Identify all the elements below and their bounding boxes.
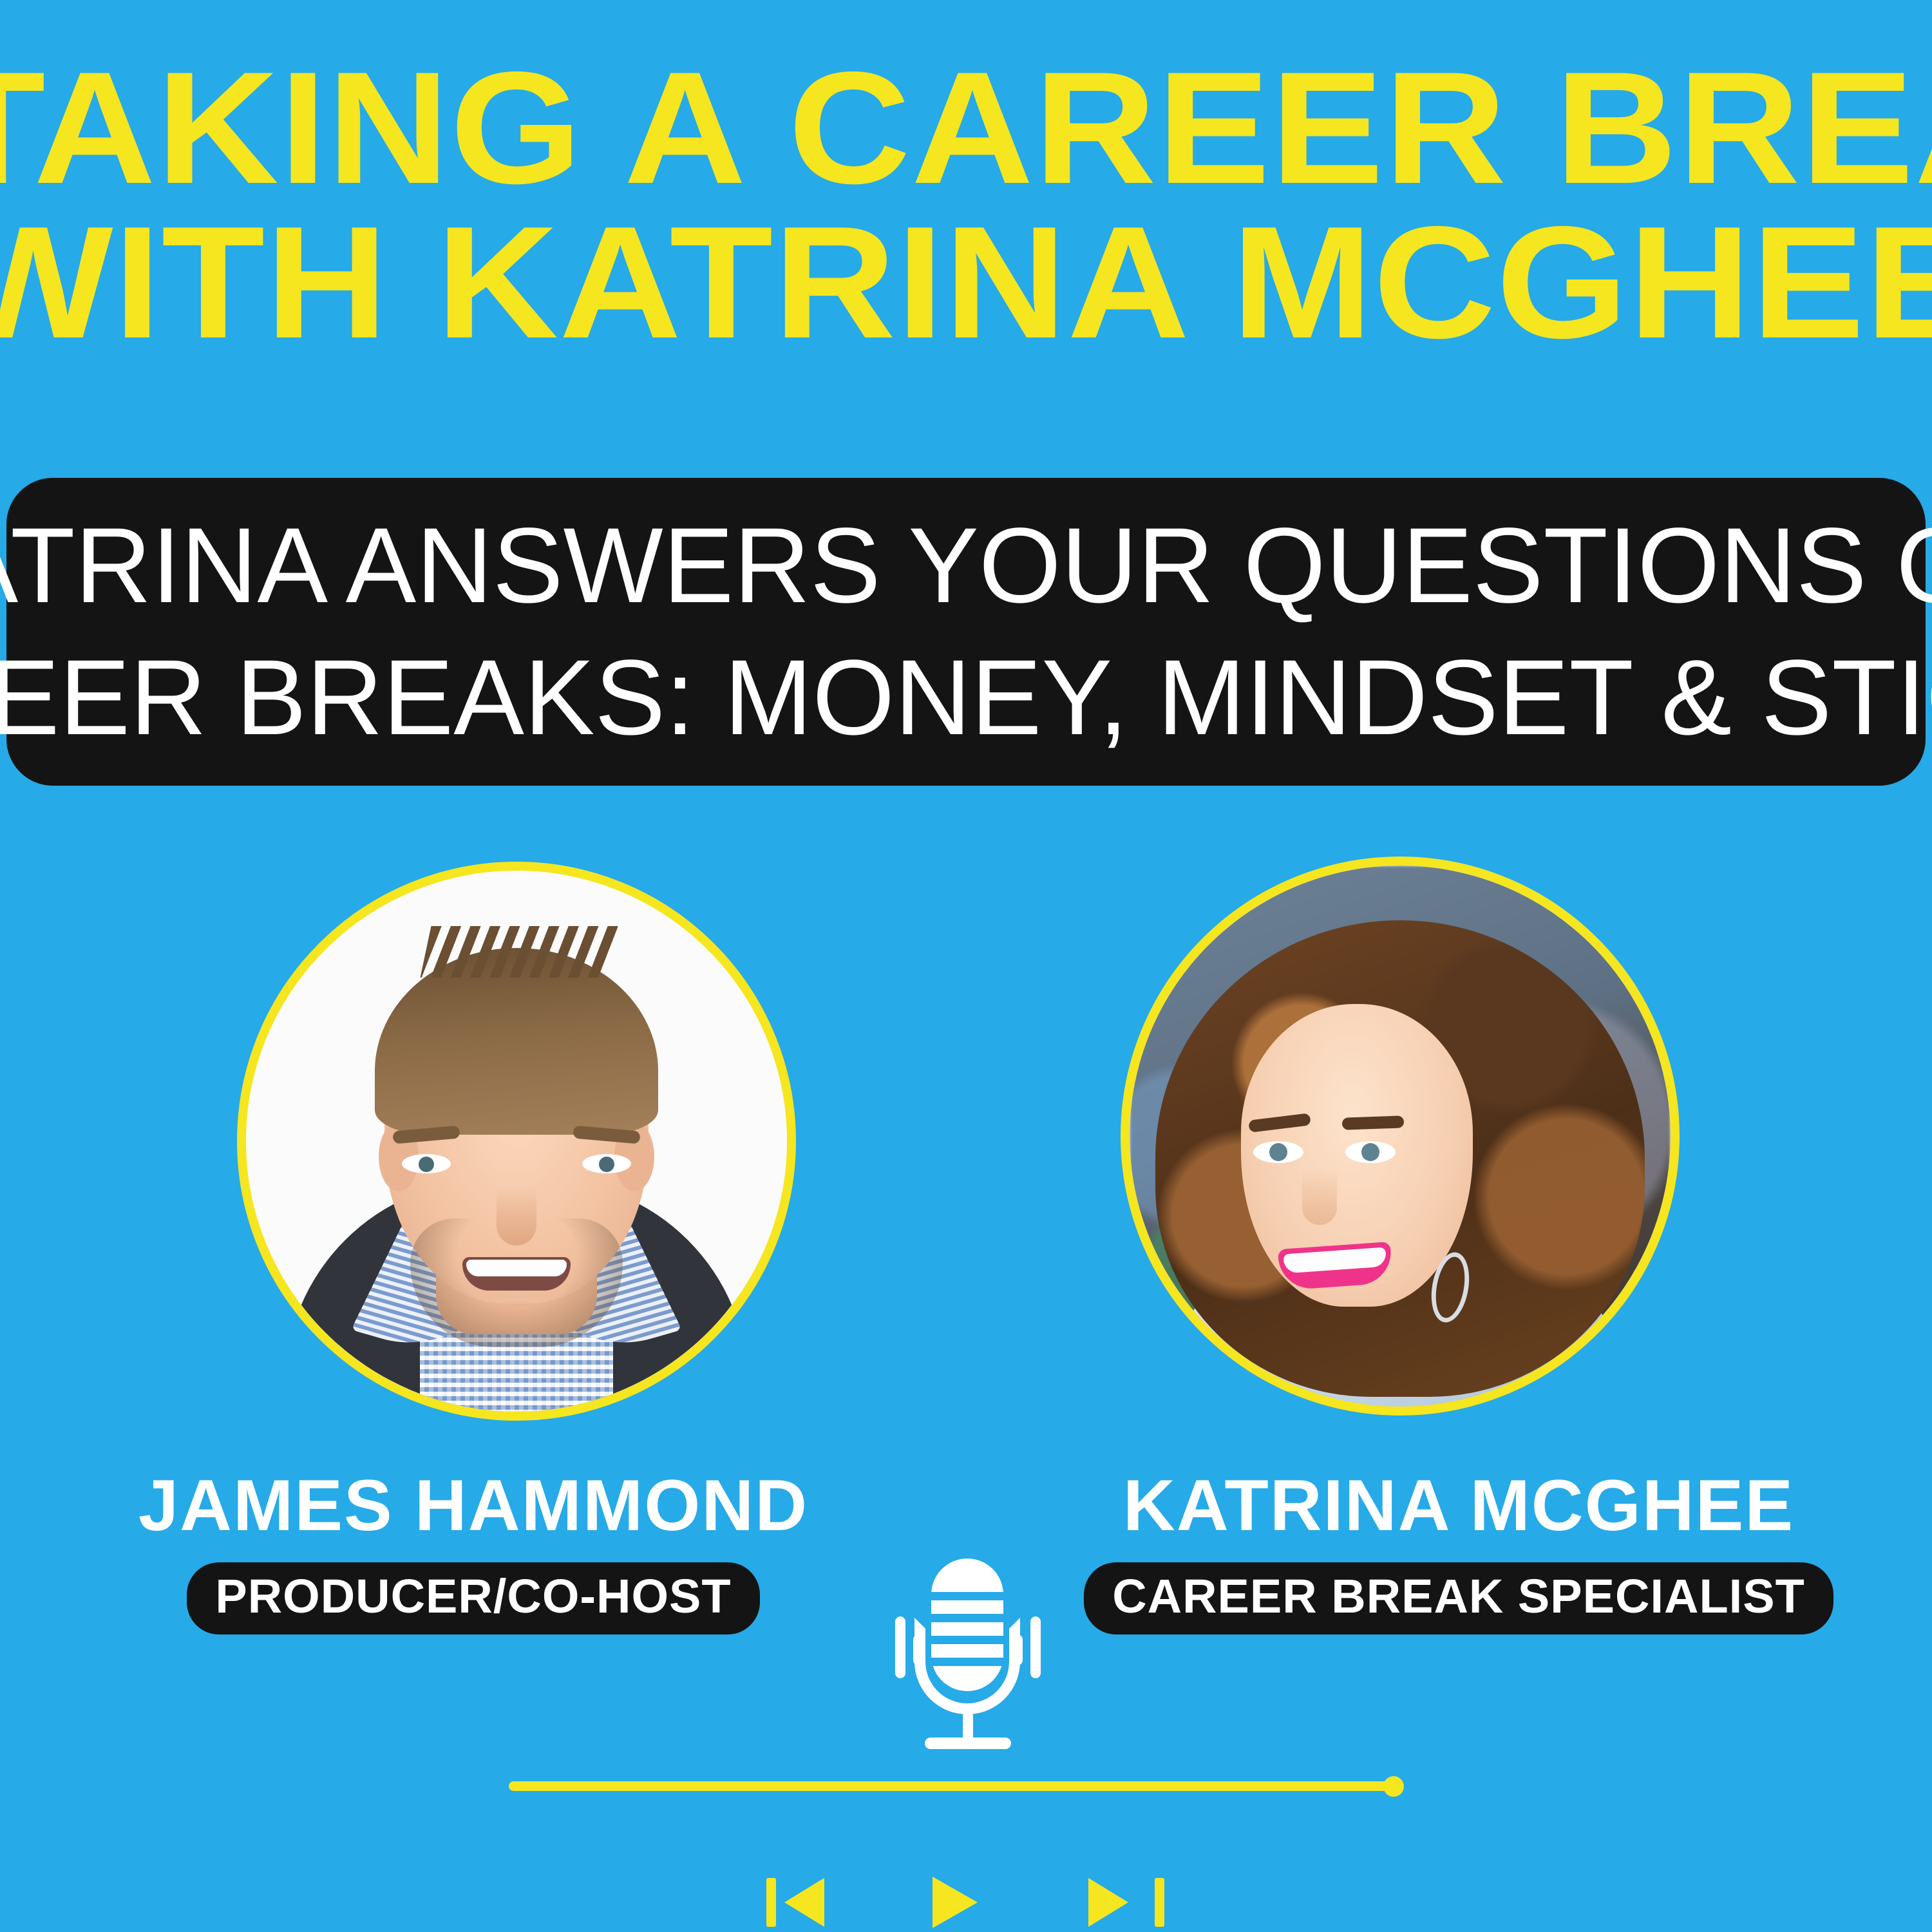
james-teeth <box>466 1260 567 1276</box>
episode-subtitle-line-2: CAREER BREAKS: MONEY, MINDSET & STIGMA <box>0 632 1932 764</box>
skip-next-triangle <box>1088 1878 1128 1927</box>
progress-knob[interactable] <box>1383 1776 1404 1797</box>
avatar-image-katrina <box>1130 866 1671 1406</box>
progress-track[interactable] <box>509 1781 1391 1791</box>
podcast-cover-art: TAKING A CAREER BREAK WITH KATRINA MCGHE… <box>0 0 1932 1932</box>
katrina-eyebrow-right <box>1342 1115 1405 1130</box>
sound-wave-bar-far-right <box>1030 1616 1041 1678</box>
play-triangle <box>933 1877 978 1928</box>
person-name-katrina: KATRINA MCGHEE <box>1024 1467 1893 1544</box>
sound-wave-bar-far-left <box>895 1616 905 1678</box>
skip-previous-triangle <box>784 1878 824 1927</box>
episode-subtitle-banner: KATRINA ANSWERS YOUR QUESTIONS ON CAREER… <box>6 478 1926 786</box>
james-mouth <box>462 1257 571 1291</box>
katrina-teeth <box>1283 1247 1387 1274</box>
page-title: TAKING A CAREER BREAK WITH KATRINA MCGHE… <box>0 50 1932 359</box>
skip-previous-bar <box>766 1878 776 1927</box>
microphone-icon <box>894 1558 1042 1758</box>
episode-subtitle-line-1: KATRINA ANSWERS YOUR QUESTIONS ON <box>0 500 1932 632</box>
play-icon[interactable] <box>933 1873 1003 1932</box>
title-line-2: WITH KATRINA MCGHEE <box>0 205 1932 359</box>
skip-next-icon[interactable] <box>1088 1873 1164 1932</box>
player-controls <box>766 1873 1166 1932</box>
playback-progress-bar[interactable] <box>509 1776 1404 1795</box>
role-badge-james: PRODUCER/CO-HOST <box>187 1562 759 1634</box>
microphone-base <box>925 1738 1011 1749</box>
katrina-nose <box>1302 1168 1337 1225</box>
james-nose <box>497 1186 536 1245</box>
katrina-eye-right <box>1345 1141 1396 1163</box>
person-name-james: JAMES HAMMOND <box>39 1467 908 1544</box>
james-eye-right <box>582 1154 631 1173</box>
skip-previous-icon[interactable] <box>766 1873 842 1932</box>
avatar-katrina-mcghee <box>1121 857 1680 1416</box>
james-eye-left <box>402 1154 451 1173</box>
host-photos <box>0 862 1932 1441</box>
skip-next-bar <box>1155 1878 1164 1927</box>
person-block-james: JAMES HAMMOND PRODUCER/CO-HOST <box>39 1467 908 1634</box>
title-line-1: TAKING A CAREER BREAK <box>0 50 1932 205</box>
person-block-katrina: KATRINA MCGHEE CAREER BREAK SPECIALIST <box>1024 1467 1893 1634</box>
avatar-james-hammond <box>237 862 796 1421</box>
katrina-eye-left <box>1253 1141 1303 1163</box>
microphone-bracket <box>914 1618 1020 1714</box>
role-badge-katrina: CAREER BREAK SPECIALIST <box>1084 1562 1833 1634</box>
microphone-slot <box>926 1592 1009 1600</box>
avatar-image-james <box>246 871 787 1412</box>
